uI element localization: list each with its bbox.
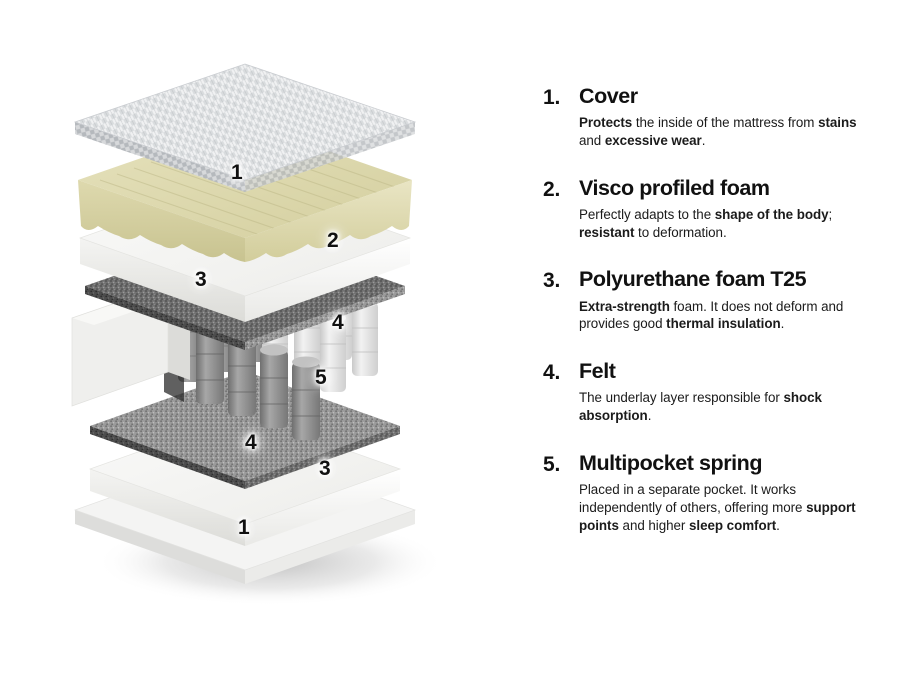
legend-item-multipocket-spring: 5. Multipocket spring Placed in a separa… — [543, 451, 883, 535]
mattress-layers-infographic: 1 2 3 4 5 4 3 1 1. Cover Protects the in… — [0, 0, 900, 675]
legend-title-5: Multipocket spring — [579, 451, 883, 475]
layer-legend-list: 1. Cover Protects the inside of the matt… — [543, 84, 883, 535]
pocket-spring — [320, 313, 346, 392]
pocket-spring — [260, 345, 288, 429]
legend-body-2: Perfectly adapts to the shape of the bod… — [579, 206, 881, 242]
legend-number-4: 4. — [543, 361, 573, 385]
legend-body-5: Placed in a separate pocket. It works in… — [579, 481, 881, 534]
legend-number-2: 2. — [543, 178, 573, 202]
legend-body-1: Protects the inside of the mattress from… — [579, 114, 881, 150]
legend-item-felt: 4. Felt The underlay layer responsible f… — [543, 359, 883, 425]
legend-title-3: Polyurethane foam T25 — [579, 267, 883, 291]
legend-item-polyurethane-foam-t25: 3. Polyurethane foam T25 Extra-strength … — [543, 267, 883, 333]
legend-number-1: 1. — [543, 86, 573, 110]
mattress-layers-svg — [60, 110, 500, 610]
legend-title-4: Felt — [579, 359, 883, 383]
legend-title-2: Visco profiled foam — [579, 176, 883, 200]
legend-number-3: 3. — [543, 269, 573, 293]
legend-number-5: 5. — [543, 453, 573, 477]
mattress-exploded-diagram: 1 2 3 4 5 4 3 1 — [60, 110, 500, 610]
legend-item-cover: 1. Cover Protects the inside of the matt… — [543, 84, 883, 150]
legend-body-4: The underlay layer responsible for shock… — [579, 389, 881, 425]
legend-item-visco-profiled-foam: 2. Visco profiled foam Perfectly adapts … — [543, 176, 883, 242]
pocket-spring — [292, 357, 320, 441]
legend-body-3: Extra-strength foam. It does not deform … — [579, 298, 881, 334]
legend-title-1: Cover — [579, 84, 883, 108]
